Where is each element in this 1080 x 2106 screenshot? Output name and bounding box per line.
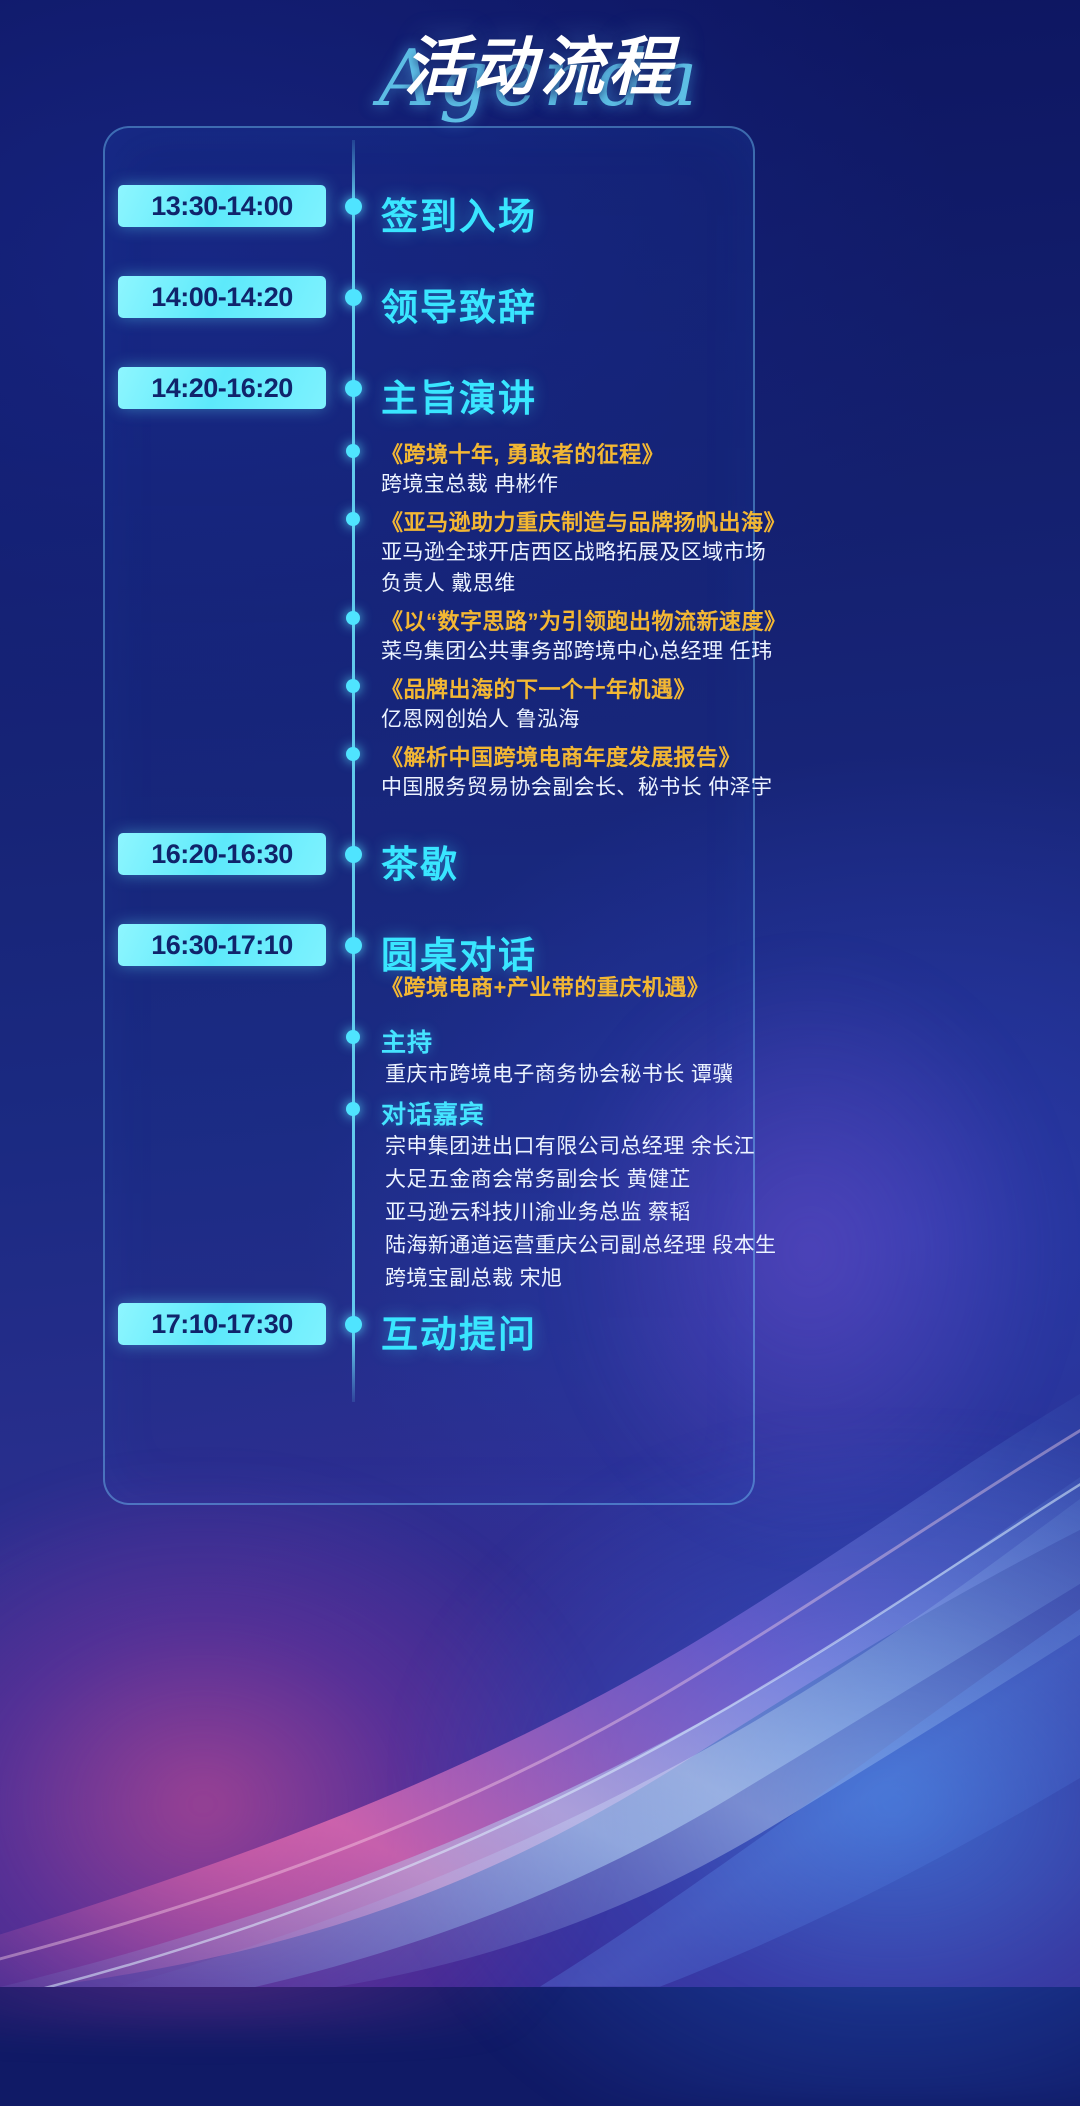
session-title: 签到入场 bbox=[381, 186, 537, 240]
host-member: 重庆市跨境电子商务协会秘书长 谭骥 bbox=[385, 1058, 734, 1088]
guest-member: 宗申集团进出口有限公司总经理 余长江 bbox=[385, 1130, 755, 1160]
timeline-dot-talk bbox=[346, 611, 360, 625]
time-badge: 17:10-17:30 bbox=[118, 1303, 326, 1345]
session-title: 主旨演讲 bbox=[381, 368, 537, 422]
talk-speaker: 菜鸟集团公共事务部跨境中心总经理 任玮 bbox=[381, 635, 772, 665]
talk-speaker: 亚马逊全球开店西区战略拓展及区域市场 bbox=[381, 536, 766, 566]
guest-member: 亚马逊云科技川渝业务总监 蔡韬 bbox=[385, 1196, 691, 1226]
timeline-dot bbox=[345, 1316, 362, 1333]
guest-member: 大足五金商会常务副会长 黄健芷 bbox=[385, 1163, 691, 1193]
guest-member: 跨境宝副总裁 宋旭 bbox=[385, 1262, 562, 1292]
time-badge: 14:00-14:20 bbox=[118, 276, 326, 318]
timeline-dot-talk bbox=[346, 444, 360, 458]
timeline-dot bbox=[345, 380, 362, 397]
timeline-dot-guests bbox=[346, 1102, 360, 1116]
session-title: 领导致辞 bbox=[381, 277, 537, 331]
timeline-dot-talk bbox=[346, 512, 360, 526]
time-badge: 13:30-14:00 bbox=[118, 185, 326, 227]
timeline-dot bbox=[345, 198, 362, 215]
talk-topic: 《品牌出海的下一个十年机遇》 bbox=[381, 672, 696, 704]
talk-speaker: 亿恩网创始人 鲁泓海 bbox=[381, 703, 580, 733]
talk-speaker: 中国服务贸易协会副会长、秘书长 仲泽宇 bbox=[381, 771, 772, 801]
timeline-dot bbox=[345, 846, 362, 863]
group-label-guests: 对话嘉宾 bbox=[381, 1095, 485, 1131]
talk-topic: 《跨境十年, 勇敢者的征程》 bbox=[381, 437, 664, 469]
talk-speaker: 跨境宝总裁 冉彬作 bbox=[381, 468, 558, 498]
time-badge: 16:20-16:30 bbox=[118, 833, 326, 875]
timeline-dot-talk bbox=[346, 747, 360, 761]
session-title: 互动提问 bbox=[381, 1304, 537, 1358]
talk-topic: 《解析中国跨境电商年度发展报告》 bbox=[381, 740, 741, 772]
timeline-dot bbox=[345, 289, 362, 306]
talk-topic: 《亚马逊助力重庆制造与品牌扬帆出海》 bbox=[381, 505, 786, 537]
session-title: 茶歇 bbox=[381, 834, 459, 888]
roundtable-topic: 《跨境电商+产业带的重庆机遇》 bbox=[381, 970, 709, 1002]
talk-speaker: 负责人 戴思维 bbox=[381, 567, 516, 597]
guest-member: 陆海新通道运营重庆公司副总经理 段本生 bbox=[385, 1229, 776, 1259]
group-label-host: 主持 bbox=[381, 1023, 433, 1059]
timeline-dot-talk bbox=[346, 679, 360, 693]
agenda-rows: 13:30-14:00 签到入场 14:00-14:20 领导致辞 14:20-… bbox=[0, 0, 1080, 1987]
time-badge: 14:20-16:20 bbox=[118, 367, 326, 409]
timeline-dot-host bbox=[346, 1030, 360, 1044]
time-badge: 16:30-17:10 bbox=[118, 924, 326, 966]
timeline-dot bbox=[345, 937, 362, 954]
talk-topic: 《以“数字思路”为引领跑出物流新速度》 bbox=[381, 604, 787, 636]
